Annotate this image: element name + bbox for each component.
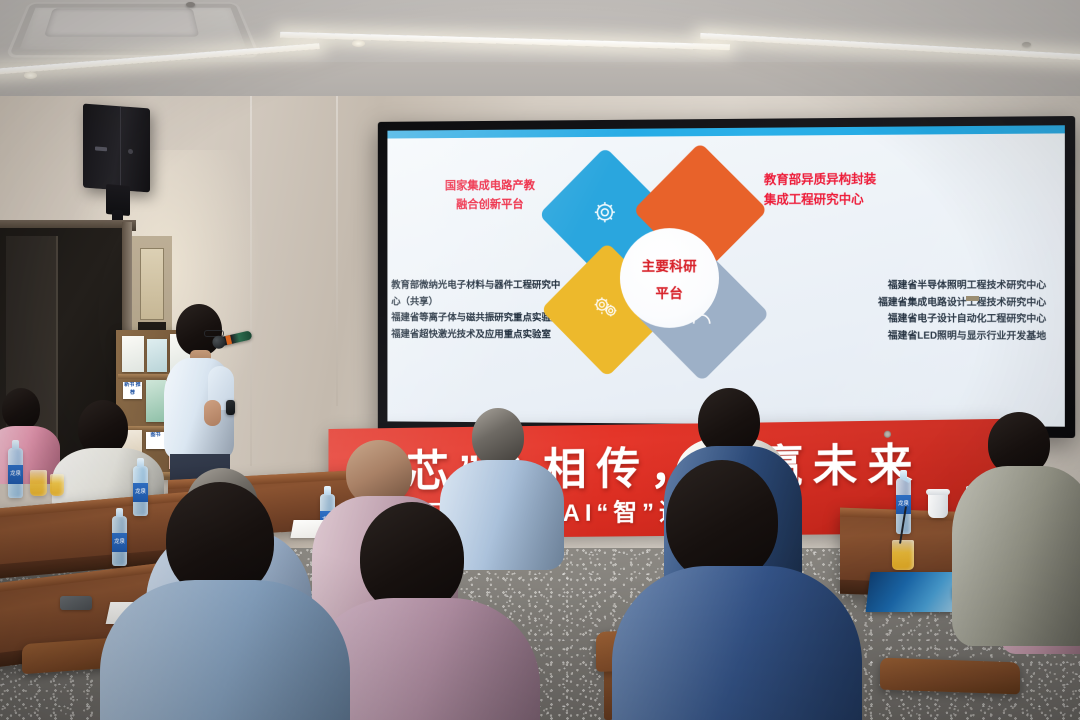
- presentation-clicker-icon: [226, 400, 235, 415]
- chair-back[interactable]: [880, 658, 1020, 695]
- diagram-hub: 主要科研 平台: [620, 228, 719, 328]
- juice-glass[interactable]: [50, 474, 64, 496]
- water-bottle[interactable]: 龙泉: [133, 466, 148, 516]
- wall-panel-seam: [250, 86, 252, 466]
- downlight-icon: [24, 72, 37, 79]
- head: [472, 408, 524, 466]
- book: [147, 339, 167, 372]
- paper-cup[interactable]: [928, 492, 948, 518]
- shirt: [612, 566, 862, 720]
- shading: [952, 466, 1080, 646]
- microphone-band: [225, 335, 232, 345]
- slide-accent-bar: [387, 125, 1064, 138]
- bottle-label: 龙泉: [8, 465, 23, 484]
- water-bottle[interactable]: 龙泉: [112, 516, 127, 566]
- conference-room-scene: 新书 推荐 图书 国家集成电路产教融合创新平台 教育部异质异构封装集成工程研究中…: [0, 0, 1080, 720]
- slide-title-right: 教育部异质异构封装集成工程研究中心: [764, 169, 981, 211]
- book: [122, 336, 144, 372]
- phone-icon[interactable]: [60, 596, 92, 610]
- ceiling-sensor-icon: [186, 2, 195, 7]
- hub-line-1: 主要科研: [642, 255, 697, 275]
- shading: [100, 580, 350, 720]
- speaker-seam: [120, 106, 121, 190]
- head: [2, 388, 40, 430]
- speaker-dot: [128, 149, 133, 154]
- cup-lid: [926, 489, 950, 495]
- slide-surface: 国家集成电路产教融合创新平台 教育部异质异构封装集成工程研究中心 教育部微纳光电…: [387, 125, 1064, 426]
- wall-panel-seam: [336, 86, 338, 406]
- water-bottle[interactable]: 龙泉: [8, 448, 23, 498]
- slide-list-right: 福建省半导体照明工程技术研究中心福建省集成电路设计工程技术研究中心福建省电子设计…: [750, 278, 1046, 346]
- downlight-icon: [352, 40, 365, 47]
- shelf-sign: 图书: [146, 432, 165, 449]
- shirt: [100, 580, 350, 720]
- double-gear-icon: [592, 294, 622, 325]
- wall-speaker-icon: [83, 104, 150, 193]
- window-latch-icon: [966, 296, 979, 301]
- interior-wall-frame: [140, 248, 164, 320]
- diamond-diagram: 主要科研 平台: [558, 162, 750, 394]
- hub-line-2: 平台: [655, 281, 683, 301]
- book: [146, 380, 166, 422]
- air-conditioner-vent: [5, 2, 261, 57]
- bottle-label: 龙泉: [112, 533, 127, 552]
- ceiling-sensor-icon: [1022, 42, 1031, 47]
- shading: [612, 566, 862, 720]
- juice-glass[interactable]: [892, 540, 914, 570]
- juice-glass[interactable]: [30, 470, 47, 496]
- gear-icon: [592, 199, 618, 230]
- head: [666, 460, 778, 582]
- speaker-port: [95, 146, 107, 151]
- vent-inner-panel: [44, 8, 199, 36]
- slide-list-left: 教育部微纳光电子材料与器件工程研究中心（共享）福建省等离子体与磁共振研究重点实验…: [391, 278, 564, 344]
- bottle-label: 龙泉: [133, 483, 148, 502]
- presenter-forearm: [204, 400, 221, 426]
- banner-eyelet: [884, 431, 891, 438]
- shirt: [952, 466, 1080, 646]
- shelf-sign: 新书 推荐: [123, 382, 142, 399]
